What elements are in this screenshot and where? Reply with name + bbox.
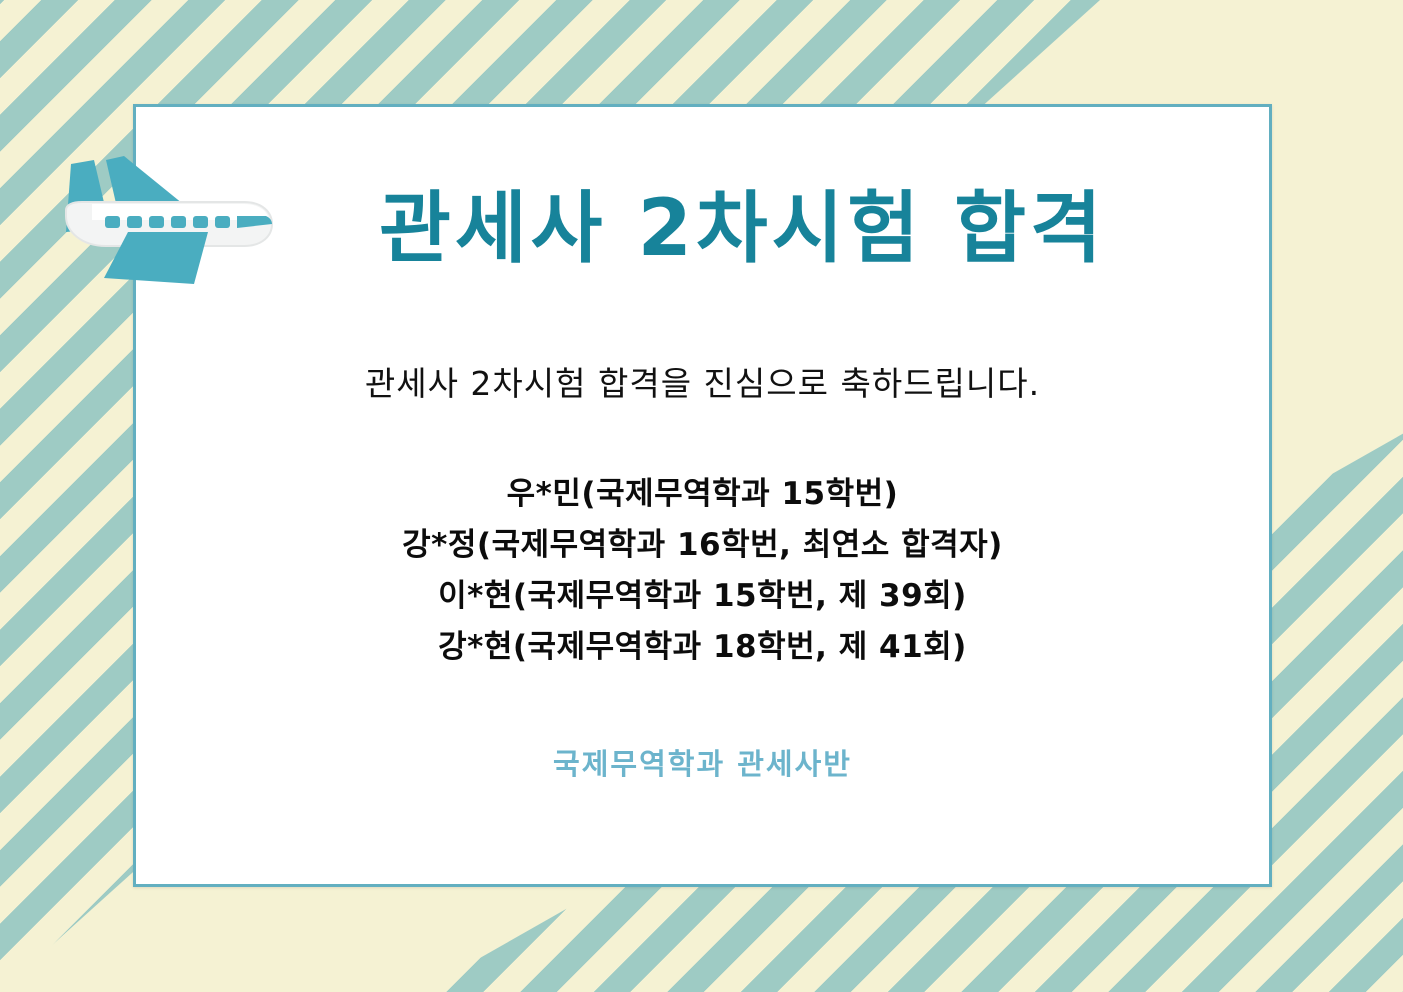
list-item: 이*현(국제무역학과 15학번, 제 39회) bbox=[133, 571, 1272, 622]
congratulation-message: 관세사 2차시험 합격을 진심으로 축하드립니다. bbox=[133, 364, 1272, 404]
passer-list: 우*민(국제무역학과 15학번) 강*정(국제무역학과 16학번, 최연소 합격… bbox=[133, 469, 1272, 673]
list-item: 강*현(국제무역학과 18학번, 제 41회) bbox=[133, 622, 1272, 673]
page-title: 관세사 2차시험 합격 bbox=[133, 189, 1272, 271]
poster-canvas: 관세사 2차시험 합격 관세사 2차시험 합격을 진심으로 축하드립니다. 우*… bbox=[0, 0, 1403, 992]
list-item: 우*민(국제무역학과 15학번) bbox=[133, 469, 1272, 520]
airplane-icon bbox=[58, 150, 298, 310]
poster-content: 관세사 2차시험 합격 관세사 2차시험 합격을 진심으로 축하드립니다. 우*… bbox=[133, 104, 1272, 887]
department-signature: 국제무역학과 관세사반 bbox=[133, 741, 1272, 783]
list-item: 강*정(국제무역학과 16학번, 최연소 합격자) bbox=[133, 520, 1272, 571]
